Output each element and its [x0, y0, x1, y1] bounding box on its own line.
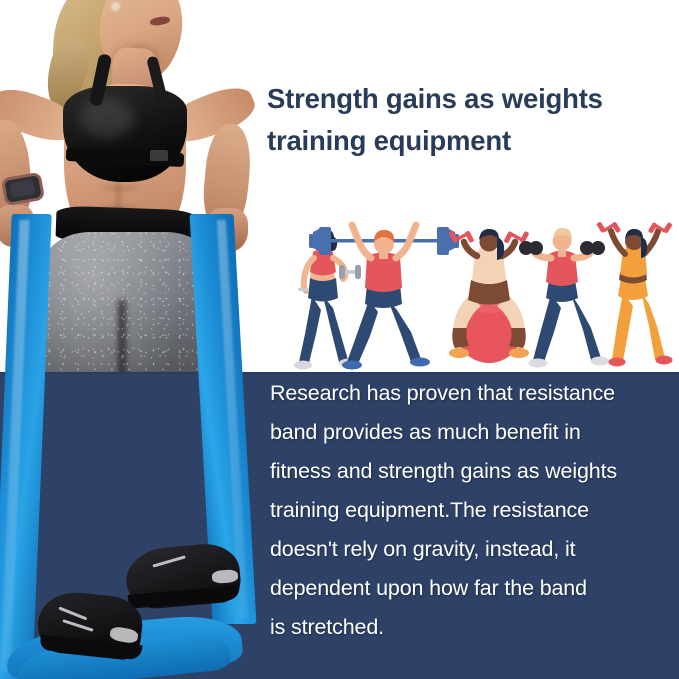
- description-line-3: fitness and strength gains as weights: [270, 452, 672, 491]
- headline-line-2: training equipment: [267, 120, 667, 162]
- photo-sports-bra-highlight: [80, 98, 134, 138]
- headline-line-1: Strength gains as weights: [267, 83, 603, 114]
- photo-abs-line-upper: [100, 186, 140, 190]
- figure-man-lateral-raise: [519, 228, 610, 368]
- infographic-canvas: Strength gains as weights training equip…: [0, 0, 679, 679]
- description-line-6: dependent upon how far the band: [270, 569, 672, 608]
- description-text: Research has proven that resistance band…: [270, 374, 672, 647]
- headline: Strength gains as weights training equip…: [267, 78, 667, 162]
- description-line-4: training equipment.The resistance: [270, 491, 672, 530]
- figure-woman-stability-ball: [448, 229, 529, 363]
- description-line-7: is stretched.: [270, 608, 672, 647]
- description-line-5: doesn't rely on gravity, instead, it: [270, 530, 672, 569]
- figure-woman-overhead-raise: [596, 222, 673, 367]
- fitness-figures-illustration: [285, 222, 679, 372]
- description-line-2: band provides as much benefit in: [270, 413, 672, 452]
- dumbbell-figure1: [339, 265, 361, 279]
- photo-earring: [112, 3, 119, 10]
- description-line-1: Research has proven that resistance: [270, 374, 672, 413]
- photo-bra-clip: [150, 150, 168, 161]
